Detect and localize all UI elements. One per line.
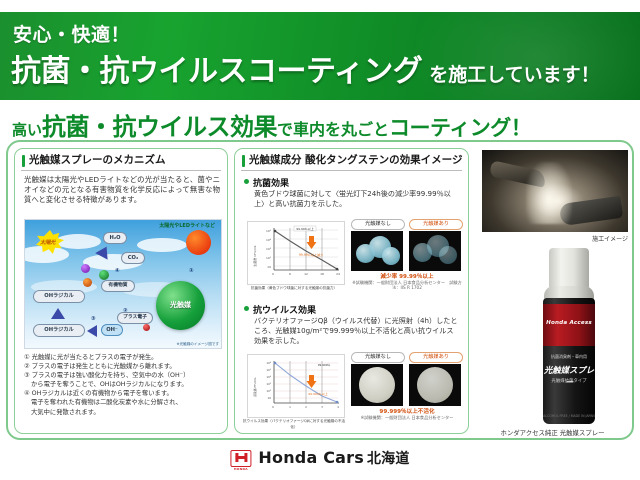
cloud-shape [137, 238, 187, 252]
dish-photo-with [409, 364, 461, 406]
photocatalyst-diagram: 太陽光やLEDライトなど 太陽光 H₂O CO₂ ④ ① ② ③ 有機物質 光触… [24, 219, 222, 349]
diagram-footnote: ※光触媒のイメージ図です [177, 342, 219, 347]
footer-brand: Honda Cars [258, 448, 364, 467]
svg-text:3: 3 [321, 405, 323, 409]
organic-substance-label: 有機物質 [101, 280, 135, 292]
footer-dealer-name: Honda Cars北海道 [258, 448, 409, 468]
antibacterial-result: 減少率 99.99％以上 [349, 272, 465, 280]
antiviral-note: ※試験機関：一般財団法人 日本食品分析センター [349, 415, 465, 420]
subhead-part2: 抗菌・抗ウイルス効果 [42, 113, 277, 141]
plus-electron-label: プラス電子 [117, 312, 153, 324]
list-item: 大気中に発散されます。 [24, 408, 220, 417]
spray-application-photo [482, 150, 628, 232]
bottle-fine-print: ALCOHOL FREE / MADE IN JAPAN [543, 414, 595, 418]
antibacterial-note: ※試験機関：一般財団法人 日本食品分析センター 試験方法：JIS R 1702 [349, 280, 465, 289]
honda-h-logo-icon: HONDA [230, 450, 251, 467]
header-title-tail: を施工しています！ [429, 64, 599, 86]
bottle-product-name: 光触媒スプレー [543, 364, 595, 388]
svg-text:18: 18 [320, 272, 324, 276]
svg-text:10: 10 [267, 265, 271, 269]
mechanism-title-rule [21, 170, 221, 171]
svg-text:10³: 10³ [266, 247, 272, 251]
led-light-label: 太陽光やLEDライトなど [159, 222, 215, 229]
petri-dish [417, 367, 453, 403]
header-title: 抗菌・抗ウイルスコーティングを施工しています！ [11, 46, 600, 90]
dish-label-with: 光触媒あり [409, 352, 463, 363]
svg-text:6: 6 [289, 272, 291, 276]
photocatalyst-ball: 光触媒 [156, 281, 205, 330]
advertisement-page: 安心・快適！ 抗菌・抗ウイルスコーティングを施工しています！ 高い抗菌・抗ウイル… [0, 0, 640, 480]
svg-text:10²: 10² [266, 256, 272, 260]
antibacterial-chart-svg: 0 6 12 18 24 10⁵ 10⁴ 10³ 10² 10 生菌数 CFU/… [248, 222, 344, 284]
antiviral-chart: 0 1 2 3 4 10⁶ 10⁵ 10⁴ 10³ 10² 10 感染価 PFU… [247, 354, 345, 418]
subhead-band: 高い抗菌・抗ウイルス効果で車内を丸ごとコーティング！ [0, 104, 640, 138]
mist-shape [526, 162, 572, 224]
svg-text:10⁵: 10⁵ [266, 229, 272, 233]
svg-text:0: 0 [272, 272, 274, 276]
list-item: ④ OHラジカルは近くの有機物から電子を奪います。 [24, 389, 220, 398]
footer: HONDA Honda Cars北海道 [0, 444, 640, 480]
co2-label: CO₂ [121, 252, 145, 264]
step-number-1: ① [189, 268, 194, 274]
svg-text:99.99％以上減少: 99.99％以上減少 [299, 252, 323, 257]
list-item: ③ プラスの電子は強い酸化力を持ち、空気中の水（OH⁻） [24, 371, 220, 380]
cloud-shape [55, 234, 101, 249]
effect-title-rule [241, 170, 462, 171]
svg-text:0: 0 [272, 405, 274, 409]
antibacterial-photos: 光触媒なし 光触媒あり 減少率 99.99％以上 ※試験機関：一般財団法人 日本… [349, 219, 465, 289]
bottle-cap [549, 248, 589, 288]
svg-text:生菌数 CFU/mL: 生菌数 CFU/mL [252, 245, 257, 267]
transform-arrow-left [87, 325, 97, 337]
list-item: から電子を奪うことで、OHはOHラジカルになります。 [24, 380, 220, 389]
dish-label-without: 光触媒なし [351, 352, 405, 363]
svg-text:24: 24 [336, 272, 340, 276]
svg-text:99.99％以上: 99.99％以上 [296, 226, 314, 231]
svg-text:99.999％以上: 99.999％以上 [308, 391, 328, 396]
list-item: ② プラスの電子は発生とともに光触媒から離れます。 [24, 362, 220, 371]
mechanism-panel: 光触媒スプレーのメカニズム 光触媒は太陽光やLEDライトなどの光が当たると、菌や… [14, 148, 228, 434]
transform-arrow-up [51, 308, 65, 319]
svg-text:10⁴: 10⁴ [266, 238, 272, 242]
subhead-part4: コーティング！ [389, 116, 531, 140]
subhead-part1: 高い [12, 121, 42, 139]
svg-text:感染価 PFU/mL: 感染価 PFU/mL [253, 377, 257, 397]
molecule-icon [81, 264, 90, 273]
petri-dish [359, 367, 395, 403]
product-bottle: Honda Access 抗菌消臭剤・車内用 光触媒スプレー 光触媒抗菌タイプ … [540, 248, 598, 426]
header-banner: 安心・快適！ 抗菌・抗ウイルスコーティングを施工しています！ [0, 12, 640, 100]
list-item: 電子を奪われた有機物は二酸化炭素や水に分解され、 [24, 398, 220, 407]
h2o-label: H₂O [103, 232, 127, 244]
svg-text:4: 4 [337, 405, 339, 409]
dish-photo-without [351, 231, 403, 271]
header-eyebrow: 安心・快適！ [13, 20, 130, 47]
svg-text:10: 10 [267, 396, 271, 400]
electron-icon [143, 324, 150, 331]
antiviral-heading: 抗ウイルス効果 [244, 303, 316, 316]
effect-panel-title: 光触媒成分 酸化タングステンの効果イメージ [242, 154, 464, 167]
bottle-caption: ホンダアクセス純正 光触媒スプレー [470, 428, 635, 437]
mechanism-panel-title: 光触媒スプレーのメカニズム [22, 154, 223, 167]
svg-text:1: 1 [289, 405, 291, 409]
dish-label-without: 光触媒なし [351, 219, 405, 230]
honda-logo-bar [235, 456, 245, 459]
footer-region: 北海道 [367, 451, 410, 467]
svg-text:10⁵: 10⁵ [266, 368, 271, 372]
antiviral-result: 99.999％以上不活化 [349, 407, 465, 415]
oh-radical-label-lower: OHラジカル [33, 324, 85, 337]
mechanism-step-list: ① 光触媒に光が当たるとプラスの電子が発生。 ② プラスの電子は発生とともに光触… [24, 353, 220, 417]
antiviral-body: バクテリオファージQβ（ウイルス代替）に光照射（4h）したところ、光触媒10g/… [254, 316, 460, 346]
oh-ion-label: OH⁻ [101, 324, 123, 336]
subhead-text: 高い抗菌・抗ウイルス効果で車内を丸ごとコーティング！ [12, 107, 531, 142]
antiviral-chart-caption: 抗ウイルス効果（バクテリオファージQβに対する光触媒の不活化） [241, 418, 347, 430]
antibacterial-body: 黄色ブドウ球菌に対して〈蛍光灯下24h後の減少率99.99％以上〉と高い抗菌力を… [254, 189, 460, 209]
bottle-brand: Honda Access [543, 320, 595, 326]
molecule-icon [83, 278, 92, 287]
spray-photo-caption: 施工イメージ [482, 234, 628, 243]
list-item: ① 光触媒に光が当たるとプラスの電子が発生。 [24, 353, 220, 362]
photocatalyst-ball-label: 光触媒 [156, 300, 205, 310]
dish-photo-with [409, 231, 461, 271]
header-title-main: 抗菌・抗ウイルスコーティング [11, 54, 422, 89]
svg-text:2: 2 [305, 405, 307, 409]
bottle-subtitle-top: 抗菌消臭剤・車内用 [543, 354, 595, 360]
led-sun-icon [186, 230, 211, 255]
subhead-part3: で車内を丸ごと [277, 120, 389, 139]
mechanism-body-text: 光触媒は太陽光やLEDライトなどの光が当たると、菌やニオイなどの元となる有害物質… [24, 175, 220, 206]
step-number-4: ④ [115, 268, 120, 274]
molecule-icon [99, 270, 109, 280]
sunlight-label: 太陽光 [40, 238, 55, 246]
svg-text:10²: 10² [266, 389, 271, 393]
honda-logo-word: HONDA [231, 467, 250, 471]
svg-text:10³: 10³ [266, 382, 271, 386]
effect-panel: 光触媒成分 酸化タングステンの効果イメージ 抗菌効果 黄色ブドウ球菌に対して〈蛍… [234, 148, 469, 434]
svg-text:99.999％: 99.999％ [318, 363, 331, 367]
bottle-subtitle-bottom: 光触媒抗菌タイプ [543, 378, 595, 384]
antibacterial-chart-caption: 抗菌効果（黄色ブドウ球菌に対する光触媒の抗菌力） [241, 285, 347, 291]
footer-brand-block: HONDA Honda Cars北海道 [230, 448, 409, 468]
antibacterial-heading: 抗菌効果 [244, 176, 289, 189]
dish-photo-without [351, 364, 403, 406]
oh-radical-label-upper: OHラジカル [33, 290, 85, 303]
antiviral-chart-svg: 0 1 2 3 4 10⁶ 10⁵ 10⁴ 10³ 10² 10 感染価 PFU… [248, 355, 344, 417]
petri-dish [382, 247, 400, 265]
svg-text:12: 12 [304, 272, 308, 276]
step-number-3: ③ [91, 316, 96, 322]
dish-label-with: 光触媒あり [409, 219, 463, 230]
bottle-body: Honda Access 抗菌消臭剤・車内用 光触媒スプレー 光触媒抗菌タイプ … [543, 298, 595, 424]
petri-dish [439, 246, 457, 264]
antiviral-photos: 光触媒なし 光触媒あり 99.999％以上不活化 ※試験機関：一般財団法人 日本… [349, 352, 465, 424]
antibacterial-chart: 0 6 12 18 24 10⁵ 10⁴ 10³ 10² 10 生菌数 CFU/… [247, 221, 345, 285]
